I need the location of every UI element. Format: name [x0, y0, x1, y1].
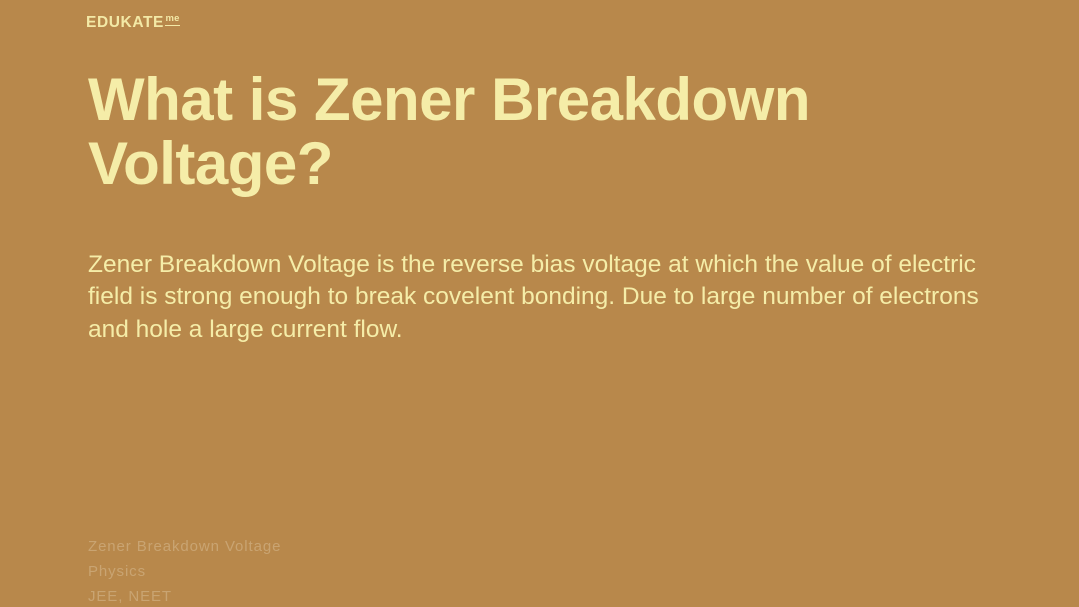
slide-footer: Zener Breakdown Voltage Physics JEE, NEE… — [88, 534, 688, 607]
logo-wordmark: EDUKATE — [86, 15, 164, 31]
slide-title: What is Zener Breakdown Voltage? — [88, 68, 888, 195]
logo-underline-rule — [165, 25, 179, 27]
logo-superscript-text: me — [165, 13, 179, 24]
footer-subject: Physics — [88, 559, 688, 584]
presentation-slide: EDUKATE me What is Zener Breakdown Volta… — [0, 0, 1079, 607]
edukate-logo[interactable]: EDUKATE me — [86, 15, 180, 31]
logo-superscript: me — [165, 14, 179, 26]
footer-topic: Zener Breakdown Voltage — [88, 534, 688, 559]
slide-body-text: Zener Breakdown Voltage is the reverse b… — [88, 249, 994, 346]
footer-exams: JEE, NEET — [88, 584, 688, 607]
